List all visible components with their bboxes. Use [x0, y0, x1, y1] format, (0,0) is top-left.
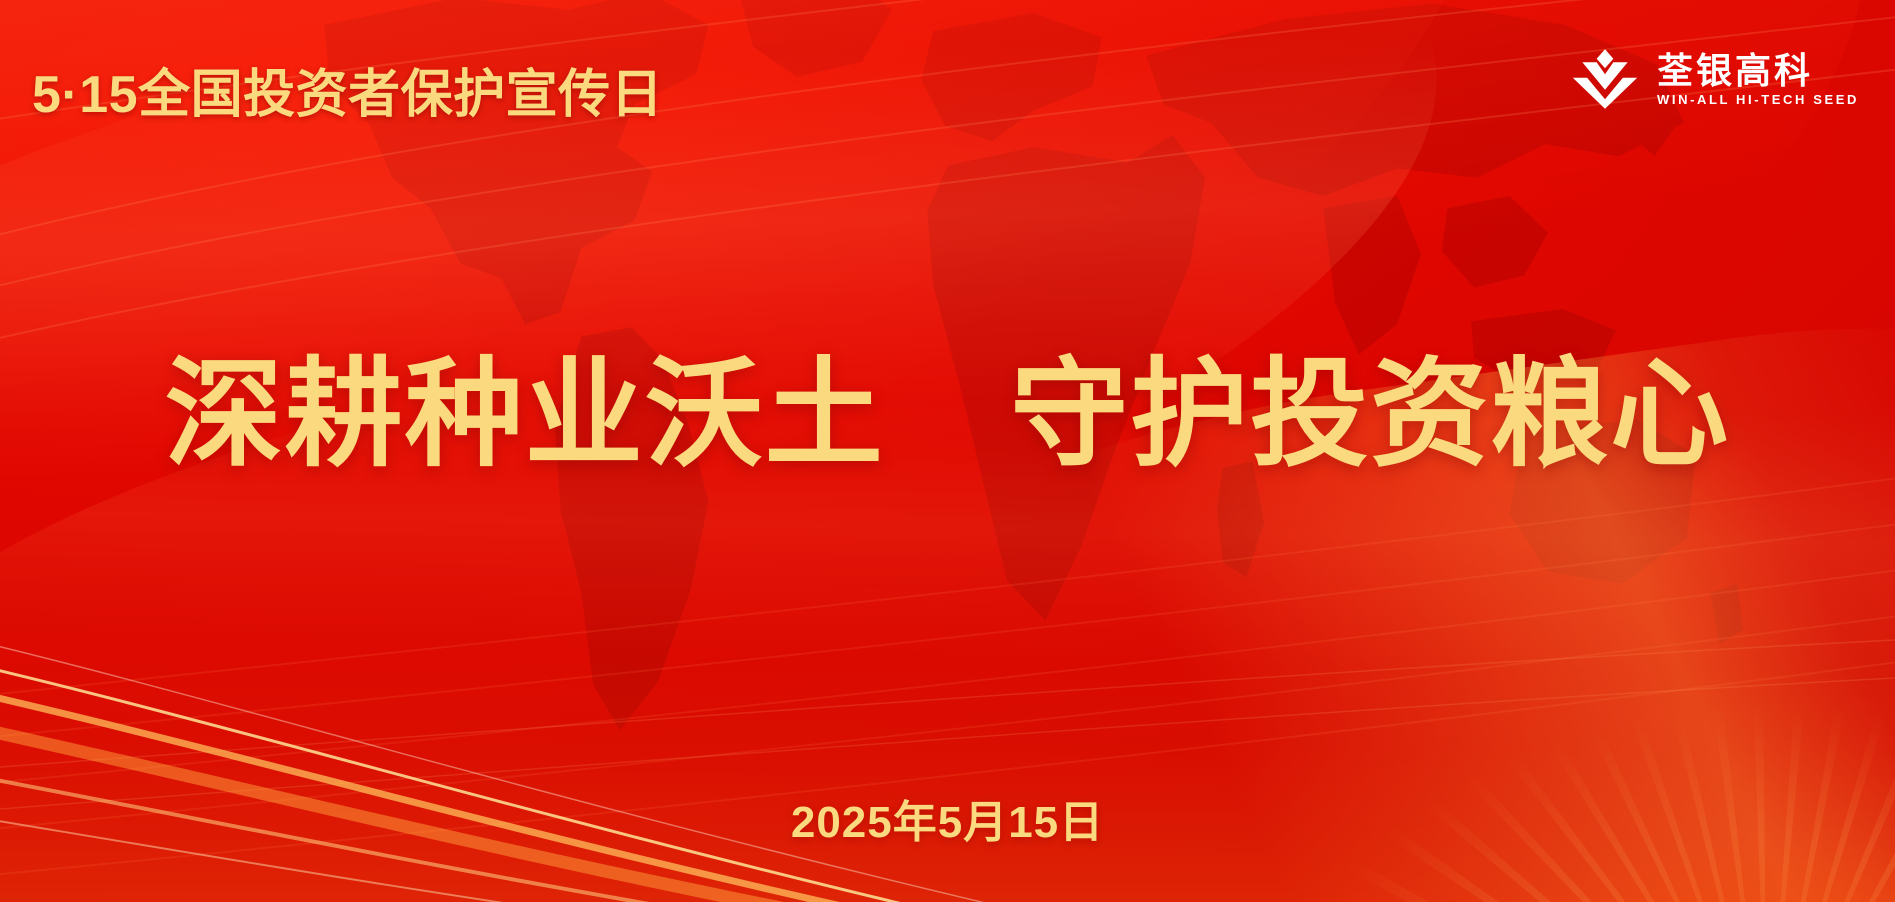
campaign-label: 5·15全国投资者保护宣传日: [32, 52, 663, 127]
chevron-logo-mark-icon: [1569, 48, 1641, 110]
banner-content: 5·15全国投资者保护宣传日 荃银高科 WIN-ALL HI-TECH SEED…: [0, 0, 1895, 902]
headline-segment-2: 守护投资粮心: [1010, 349, 1730, 481]
investor-protection-banner: 5·15全国投资者保护宣传日 荃银高科 WIN-ALL HI-TECH SEED…: [0, 0, 1895, 902]
brand-logo: 荃银高科 WIN-ALL HI-TECH SEED: [1569, 48, 1859, 110]
brand-name-en: WIN-ALL HI-TECH SEED: [1657, 93, 1859, 106]
brand-name-cn: 荃银高科: [1657, 53, 1859, 89]
headline-segment-1: 深耕种业沃土: [165, 349, 885, 481]
page-title: 深耕种业沃土 守护投资粮心: [0, 352, 1895, 479]
brand-text-block: 荃银高科 WIN-ALL HI-TECH SEED: [1657, 53, 1859, 106]
event-date: 2025年5月15日: [0, 786, 1895, 850]
